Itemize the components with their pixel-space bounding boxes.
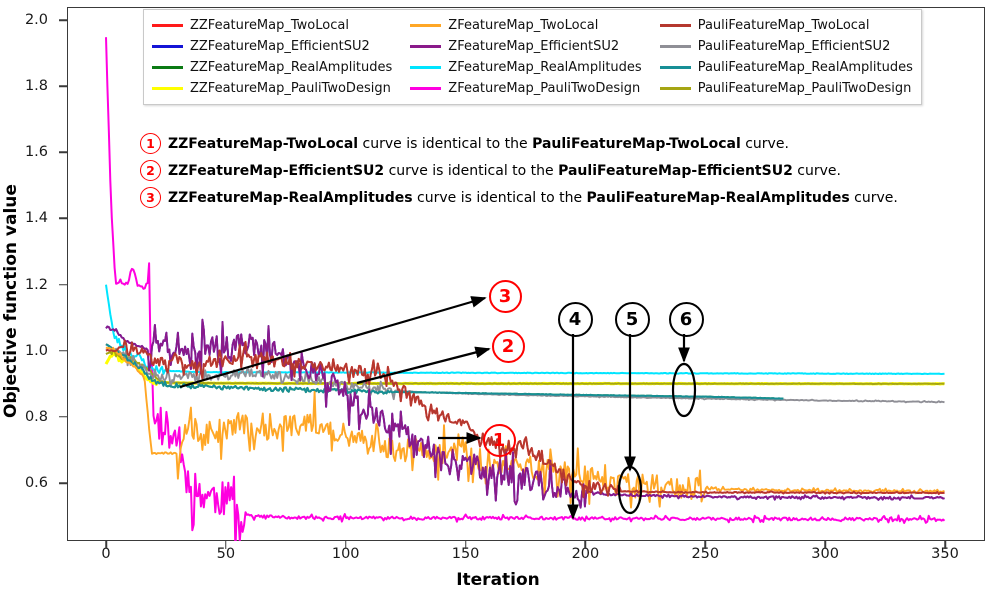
- legend-item[interactable]: PauliFeatureMap_TwoLocal: [660, 15, 913, 35]
- legend: ZZFeatureMap_TwoLocalZFeatureMap_TwoLoca…: [143, 9, 922, 105]
- legend-item[interactable]: ZFeatureMap_TwoLocal: [410, 15, 641, 35]
- legend-label: PauliFeatureMap_TwoLocal: [698, 18, 870, 33]
- legend-label: ZFeatureMap_TwoLocal: [448, 18, 598, 33]
- note-row: 2ZZFeatureMap-EfficientSU2 curve is iden…: [140, 160, 898, 181]
- legend-item[interactable]: ZFeatureMap_RealAmplitudes: [410, 57, 641, 77]
- legend-label: ZZFeatureMap_PauliTwoDesign: [190, 81, 391, 96]
- chart-root: Objective function value 2.01.81.61.41.2…: [0, 0, 996, 601]
- legend-item[interactable]: ZFeatureMap_PauliTwoDesign: [410, 78, 641, 98]
- note-row: 1ZZFeatureMap-TwoLocal curve is identica…: [140, 133, 898, 154]
- y-tick-mark: [59, 152, 67, 154]
- x-tick-mark: [705, 541, 707, 549]
- y-tick-label: 0.8: [8, 409, 48, 425]
- x-axis-label: Iteration: [0, 570, 996, 590]
- legend-item[interactable]: ZZFeatureMap_EfficientSU2: [152, 36, 392, 56]
- y-tick-label: 1.4: [8, 210, 48, 226]
- x-tick-mark: [345, 541, 347, 549]
- note-badge: 2: [140, 160, 161, 181]
- legend-color-swatch: [410, 45, 441, 48]
- legend-label: ZFeatureMap_RealAmplitudes: [448, 60, 641, 75]
- x-tick-mark: [824, 541, 826, 549]
- legend-color-swatch: [152, 87, 183, 90]
- legend-label: ZZFeatureMap_RealAmplitudes: [190, 60, 392, 75]
- callout-4: 4: [558, 302, 593, 337]
- note-badge: 3: [140, 187, 161, 208]
- y-tick-label: 2.0: [8, 12, 48, 28]
- legend-item[interactable]: PauliFeatureMap_RealAmplitudes: [660, 57, 913, 77]
- y-tick-label: 1.0: [8, 343, 48, 359]
- y-tick-label: 1.2: [8, 277, 48, 293]
- y-axis-label: Objective function value: [1, 166, 21, 436]
- legend-item[interactable]: ZZFeatureMap_RealAmplitudes: [152, 57, 392, 77]
- legend-item[interactable]: PauliFeatureMap_PauliTwoDesign: [660, 78, 913, 98]
- x-tick-mark: [585, 541, 587, 549]
- legend-color-swatch: [152, 24, 183, 27]
- legend-color-swatch: [660, 87, 691, 90]
- callout-6: 6: [669, 302, 704, 337]
- legend-color-swatch: [410, 24, 441, 27]
- legend-label: ZZFeatureMap_EfficientSU2: [190, 39, 370, 54]
- legend-item[interactable]: ZZFeatureMap_PauliTwoDesign: [152, 78, 392, 98]
- legend-label: ZFeatureMap_EfficientSU2: [448, 39, 619, 54]
- note-text: ZZFeatureMap-TwoLocal curve is identical…: [168, 136, 789, 152]
- legend-label: ZFeatureMap_PauliTwoDesign: [448, 81, 640, 96]
- legend-label: ZZFeatureMap_TwoLocal: [190, 18, 349, 33]
- legend-color-swatch: [660, 24, 691, 27]
- legend-item[interactable]: ZZFeatureMap_TwoLocal: [152, 15, 392, 35]
- y-tick-label: 1.6: [8, 144, 48, 160]
- legend-color-swatch: [660, 66, 691, 69]
- x-tick-mark: [944, 541, 946, 549]
- callout-2: 2: [492, 330, 525, 363]
- legend-color-swatch: [660, 45, 691, 48]
- y-tick-label: 1.8: [8, 78, 48, 94]
- y-tick-mark: [59, 218, 67, 220]
- y-tick-mark: [59, 284, 67, 286]
- legend-item[interactable]: PauliFeatureMap_EfficientSU2: [660, 36, 913, 56]
- callout-5: 5: [615, 302, 650, 337]
- y-tick-mark: [59, 350, 67, 352]
- y-tick-mark: [59, 85, 67, 87]
- annotation-notes: 1ZZFeatureMap-TwoLocal curve is identica…: [140, 133, 898, 208]
- legend-color-swatch: [410, 66, 441, 69]
- curve-ZFeatureMap_EfficientSU2: [106, 320, 945, 508]
- legend-color-swatch: [152, 66, 183, 69]
- x-tick-mark: [465, 541, 467, 549]
- note-badge: 1: [140, 133, 161, 154]
- callout-3: 3: [489, 280, 522, 313]
- note-text: ZZFeatureMap-EfficientSU2 curve is ident…: [168, 163, 841, 179]
- y-tick-mark: [59, 482, 67, 484]
- legend-item[interactable]: ZFeatureMap_EfficientSU2: [410, 36, 641, 56]
- note-text: ZZFeatureMap-RealAmplitudes curve is ide…: [168, 190, 898, 206]
- legend-color-swatch: [410, 87, 441, 90]
- legend-label: PauliFeatureMap_EfficientSU2: [698, 39, 891, 54]
- y-tick-mark: [59, 416, 67, 418]
- legend-label: PauliFeatureMap_RealAmplitudes: [698, 60, 913, 75]
- legend-label: PauliFeatureMap_PauliTwoDesign: [698, 81, 912, 96]
- x-tick-mark: [105, 541, 107, 549]
- callout-1: 1: [483, 424, 516, 457]
- legend-color-swatch: [152, 45, 183, 48]
- y-tick-mark: [59, 19, 67, 21]
- x-tick-mark: [225, 541, 227, 549]
- note-row: 3ZZFeatureMap-RealAmplitudes curve is id…: [140, 187, 898, 208]
- y-tick-label: 0.6: [8, 475, 48, 491]
